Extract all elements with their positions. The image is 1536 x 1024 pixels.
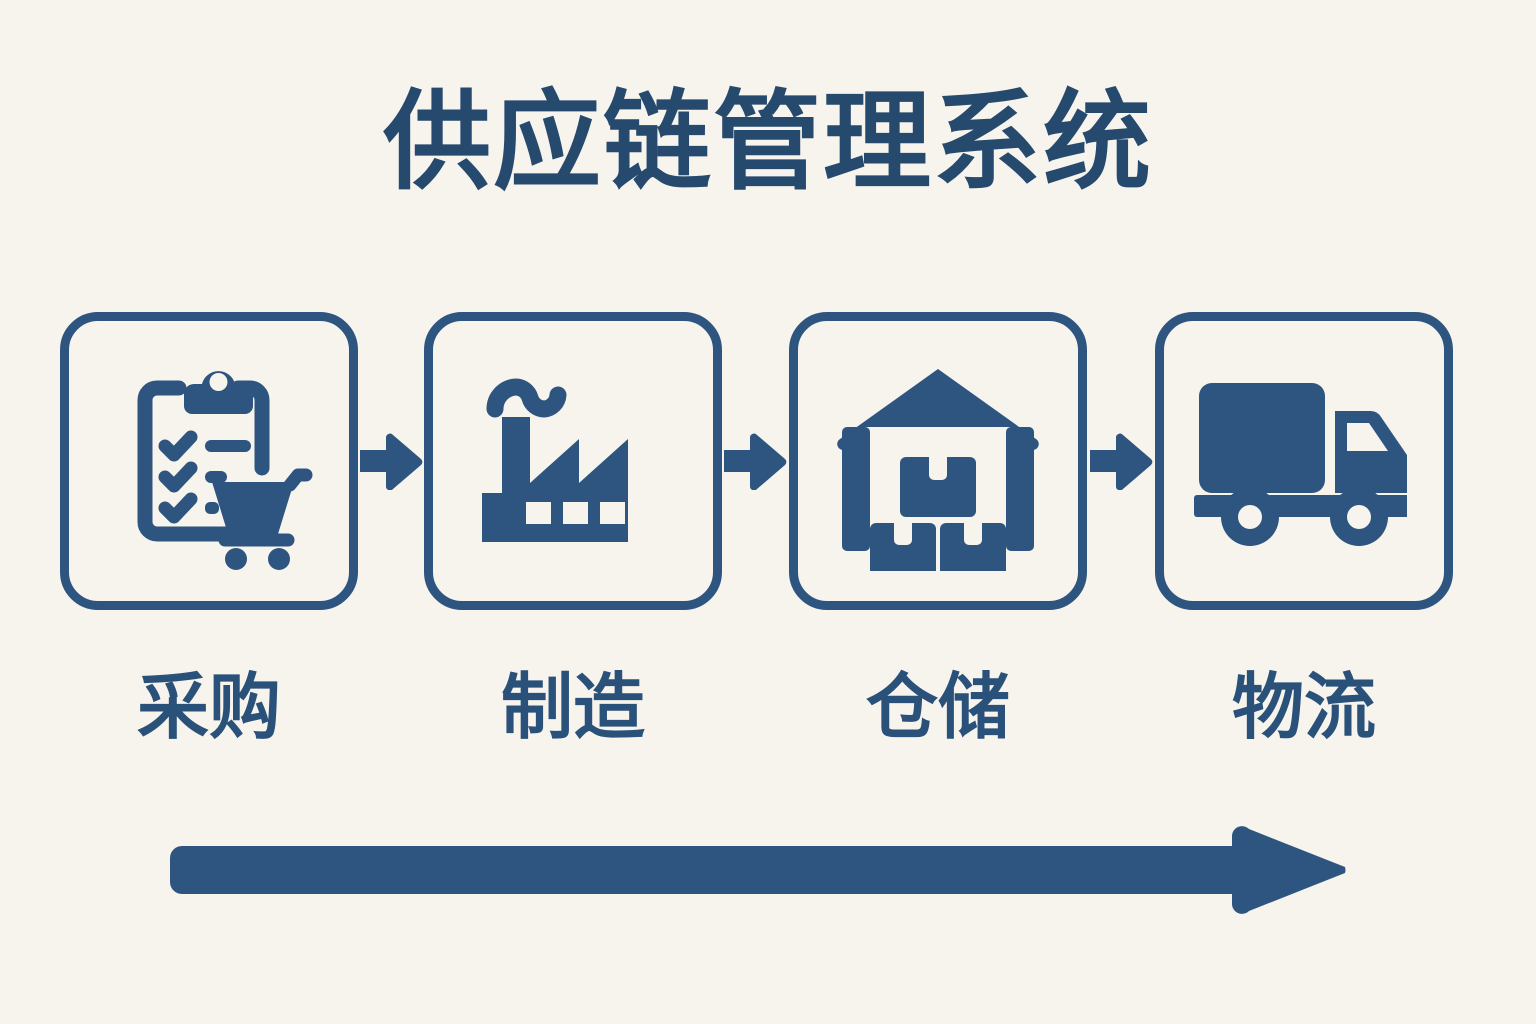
stage-label-logistics: 物流 <box>1155 660 1453 756</box>
stage-label-warehousing: 仓储 <box>789 660 1087 756</box>
arrow-right-icon <box>358 432 424 490</box>
stage-label-procurement: 采购 <box>60 660 358 756</box>
stage-card-procurement[interactable] <box>60 312 358 610</box>
stage-card-logistics[interactable] <box>1155 312 1453 610</box>
long-arrow-right-icon <box>170 818 1356 922</box>
page-title: 供应链管理系统 <box>0 84 1536 200</box>
arrow-right-icon <box>1088 432 1154 490</box>
delivery-truck-icon <box>1164 321 1444 601</box>
clipboard-checklist-shopping-cart-icon <box>69 321 349 601</box>
diagram-canvas: 供应链管理系统 <box>0 0 1536 1024</box>
warehouse-boxes-icon <box>798 321 1078 601</box>
stage-card-manufacturing[interactable] <box>424 312 722 610</box>
stage-label-manufacturing: 制造 <box>424 660 722 756</box>
connector-arrow-procurement-to-manufacturing <box>358 432 424 490</box>
connector-arrow-manufacturing-to-warehousing <box>722 432 788 490</box>
process-flow-arrow <box>170 818 1356 922</box>
arrow-right-icon <box>722 432 788 490</box>
factory-icon <box>433 321 713 601</box>
stage-card-warehousing[interactable] <box>789 312 1087 610</box>
connector-arrow-warehousing-to-logistics <box>1088 432 1154 490</box>
